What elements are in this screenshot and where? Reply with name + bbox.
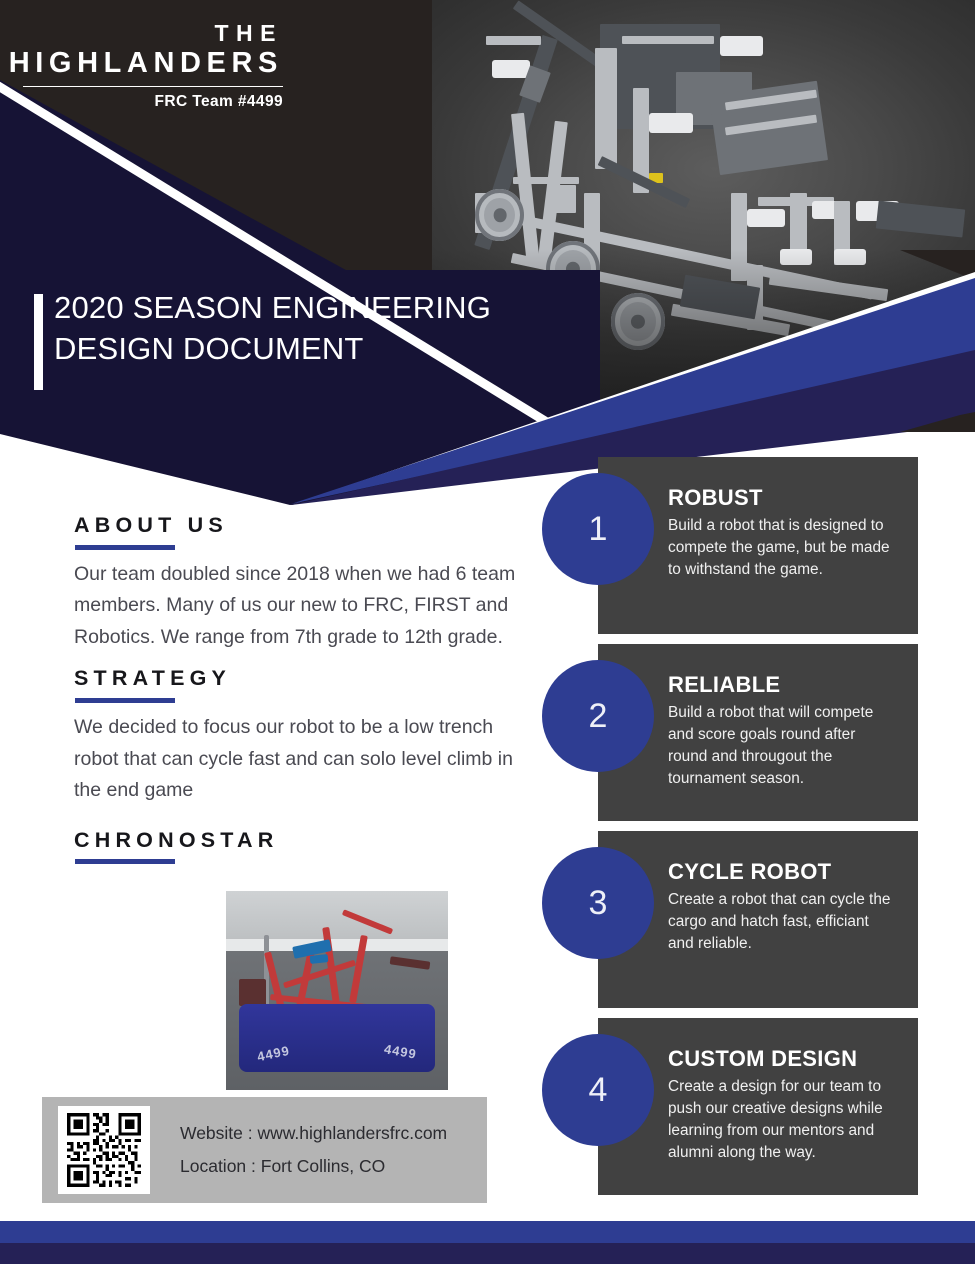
goal-card-1[interactable]: 1 ROBUST Build a robot that is designed … (598, 457, 918, 634)
goal-body-2: Build a robot that will compete and scor… (668, 702, 896, 790)
goal-card-list: 1 ROBUST Build a robot that is designed … (0, 0, 975, 1264)
goal-body-3: Create a robot that can cycle the cargo … (668, 889, 896, 955)
goal-body-4: Create a design for our team to push our… (668, 1076, 896, 1164)
goal-body-1: Build a robot that is designed to compet… (668, 515, 896, 581)
goal-card-3[interactable]: 3 CYCLE ROBOT Create a robot that can cy… (598, 831, 918, 1008)
goal-title-3: CYCLE ROBOT (668, 859, 831, 885)
footer-bar-navy (0, 1243, 975, 1264)
poster-page: THE HIGHLANDERS FRC Team #4499 2020 SEAS… (0, 0, 975, 1264)
goal-card-2[interactable]: 2 RELIABLE Build a robot that will compe… (598, 644, 918, 821)
footer-bar-blue (0, 1221, 975, 1243)
goal-number-badge-1: 1 (542, 473, 654, 585)
goal-number-badge-3: 3 (542, 847, 654, 959)
goal-number-badge-4: 4 (542, 1034, 654, 1146)
goal-card-4[interactable]: 4 CUSTOM DESIGN Create a design for our … (598, 1018, 918, 1195)
goal-title-1: ROBUST (668, 485, 763, 511)
goal-number-badge-2: 2 (542, 660, 654, 772)
goal-title-4: CUSTOM DESIGN (668, 1046, 857, 1072)
goal-title-2: RELIABLE (668, 672, 780, 698)
